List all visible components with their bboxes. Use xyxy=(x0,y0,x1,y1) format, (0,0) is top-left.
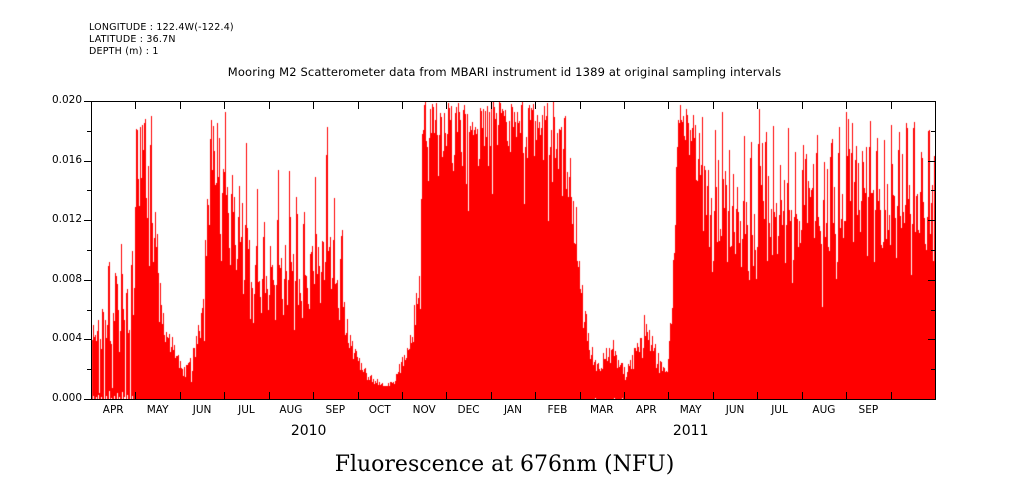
axis-tick xyxy=(180,392,181,399)
axis-tick xyxy=(87,310,92,311)
y-axis-labels: 0.0000.0040.0080.0120.0160.020 xyxy=(36,0,82,504)
axis-tick xyxy=(358,102,359,109)
depth-label: DEPTH (m) : 1 xyxy=(89,46,234,58)
axis-tick xyxy=(757,392,758,399)
axis-tick xyxy=(713,102,714,109)
y-tick-label: 0.008 xyxy=(36,273,82,285)
axis-tick xyxy=(668,392,669,399)
axis-tick xyxy=(668,102,669,109)
axis-tick xyxy=(87,250,92,251)
axis-bottom xyxy=(91,399,936,400)
axis-tick xyxy=(84,161,92,162)
y-tick-label: 0.004 xyxy=(36,332,82,344)
longitude-label: LONGITUDE : 122.4W(-122.4) xyxy=(89,22,234,34)
axis-tick xyxy=(580,102,581,109)
axis-tick xyxy=(931,369,936,370)
axis-tick xyxy=(491,392,492,399)
axis-tick xyxy=(87,190,92,191)
x-tick-label: SEP xyxy=(838,404,898,416)
axis-tick xyxy=(624,102,625,109)
axis-tick xyxy=(446,102,447,109)
axis-tick xyxy=(84,101,92,102)
axis-tick xyxy=(802,102,803,109)
axis-tick xyxy=(87,131,92,132)
year-label: 2010 xyxy=(249,423,369,439)
axis-tick xyxy=(402,392,403,399)
axis-tick xyxy=(846,102,847,109)
axis-tick xyxy=(84,339,92,340)
y-tick-label: 0.000 xyxy=(36,392,82,404)
axis-tick xyxy=(928,280,936,281)
y-tick-label: 0.020 xyxy=(36,94,82,106)
axis-tick xyxy=(535,102,536,109)
axis-tick xyxy=(313,102,314,109)
axis-tick xyxy=(358,392,359,399)
figure-root: LONGITUDE : 122.4W(-122.4) LATITUDE : 36… xyxy=(0,0,1009,504)
plot-area xyxy=(91,101,935,399)
axis-tick xyxy=(891,392,892,399)
axis-tick xyxy=(931,190,936,191)
axis-tick xyxy=(928,339,936,340)
axis-top xyxy=(91,101,936,102)
axis-tick xyxy=(224,392,225,399)
axis-tick xyxy=(928,101,936,102)
axis-tick xyxy=(713,392,714,399)
axis-tick xyxy=(269,102,270,109)
axis-tick xyxy=(931,131,936,132)
axis-tick xyxy=(931,310,936,311)
station-metadata: LONGITUDE : 122.4W(-122.4) LATITUDE : 36… xyxy=(89,22,234,59)
axis-tick xyxy=(269,392,270,399)
axis-tick xyxy=(491,102,492,109)
chart-title: Mooring M2 Scatterometer data from MBARI… xyxy=(0,65,1009,79)
axis-tick xyxy=(846,392,847,399)
fluorescence-series xyxy=(91,101,935,399)
axis-tick xyxy=(928,161,936,162)
latitude-label: LATITUDE : 36.7N xyxy=(89,34,234,46)
axis-tick xyxy=(931,250,936,251)
axis-tick xyxy=(84,399,92,400)
y-tick-label: 0.012 xyxy=(36,213,82,225)
axis-tick xyxy=(891,102,892,109)
y-tick-label: 0.016 xyxy=(36,154,82,166)
axis-tick xyxy=(87,369,92,370)
axis-tick xyxy=(84,280,92,281)
axis-tick xyxy=(580,392,581,399)
axis-tick xyxy=(802,392,803,399)
axis-tick xyxy=(135,102,136,109)
axis-tick xyxy=(624,392,625,399)
axis-tick xyxy=(928,399,936,400)
axis-tick xyxy=(84,220,92,221)
axis-tick xyxy=(535,392,536,399)
axis-tick xyxy=(135,392,136,399)
axis-tick xyxy=(928,220,936,221)
axis-tick xyxy=(313,392,314,399)
axis-tick xyxy=(757,102,758,109)
year-label: 2011 xyxy=(631,423,751,439)
axis-tick xyxy=(446,392,447,399)
axis-tick xyxy=(180,102,181,109)
figure-caption: Fluorescence at 676nm (NFU) xyxy=(0,452,1009,477)
axis-tick xyxy=(402,102,403,109)
axis-tick xyxy=(224,102,225,109)
